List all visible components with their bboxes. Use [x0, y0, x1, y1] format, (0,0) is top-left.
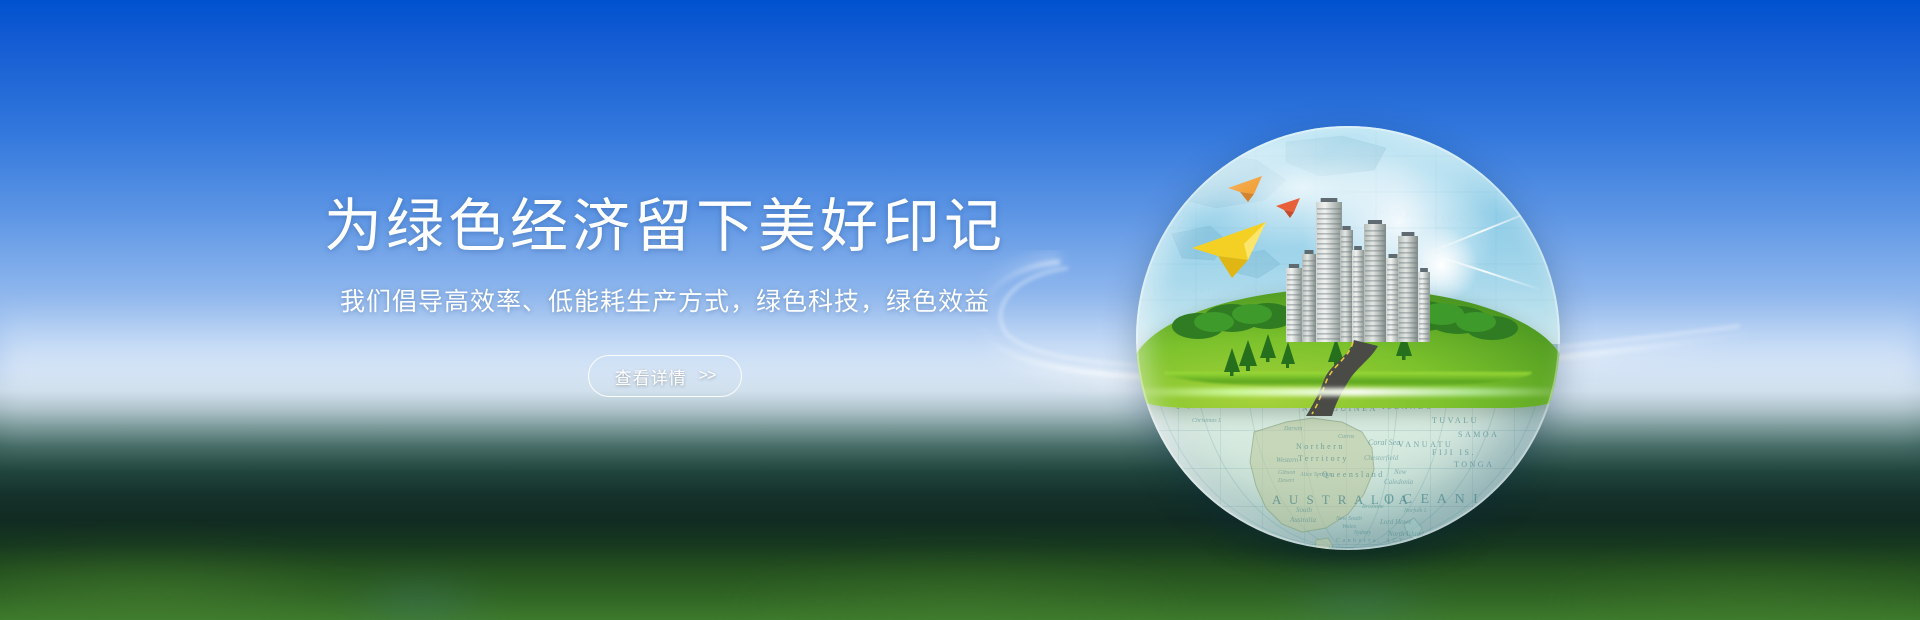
- building-window-band: [1353, 301, 1363, 303]
- building-window-band: [1353, 316, 1363, 318]
- building-window-band: [1399, 287, 1417, 289]
- building-window-band: [1341, 331, 1352, 333]
- building-window-band: [1419, 278, 1429, 280]
- building-window-band: [1399, 262, 1417, 264]
- building-roof: [1342, 226, 1350, 230]
- building-roof: [1420, 268, 1428, 272]
- building: [1418, 272, 1430, 342]
- building-window-band: [1341, 271, 1352, 273]
- building-window-band: [1399, 272, 1417, 274]
- building-window-band: [1399, 252, 1417, 254]
- building-window-band: [1387, 269, 1399, 271]
- building-window-band: [1365, 255, 1385, 257]
- building-window-band: [1399, 327, 1417, 329]
- building-window-band: [1387, 329, 1399, 331]
- building-window-band: [1365, 305, 1385, 307]
- building-window-band: [1341, 286, 1352, 288]
- building-window-band: [1353, 331, 1363, 333]
- building-window-band: [1365, 230, 1385, 232]
- building-window-band: [1399, 242, 1417, 244]
- building-window-band: [1387, 279, 1399, 281]
- building-window-band: [1387, 304, 1399, 306]
- building-window-band: [1341, 251, 1352, 253]
- building-window-band: [1341, 316, 1352, 318]
- building-window-band: [1353, 281, 1363, 283]
- building-window-band: [1353, 296, 1363, 298]
- building-window-band: [1365, 330, 1385, 332]
- building-window-band: [1365, 280, 1385, 282]
- building-window-band: [1365, 295, 1385, 297]
- building-window-band: [1341, 266, 1352, 268]
- building-window-band: [1365, 310, 1385, 312]
- building-window-band: [1365, 235, 1385, 237]
- building-window-band: [1419, 333, 1429, 335]
- building-window-band: [1387, 289, 1399, 291]
- building-window-band: [1353, 336, 1363, 338]
- building-window-band: [1341, 246, 1352, 248]
- building-window-band: [1399, 302, 1417, 304]
- building-window-band: [1365, 300, 1385, 302]
- building-window-band: [1365, 335, 1385, 337]
- building-window-band: [1365, 290, 1385, 292]
- building-window-band: [1399, 322, 1417, 324]
- building-window-band: [1341, 326, 1352, 328]
- building-window-band: [1353, 266, 1363, 268]
- building-window-band: [1419, 313, 1429, 315]
- building-window-band: [1353, 286, 1363, 288]
- building-window-band: [1341, 336, 1352, 338]
- building: [1398, 236, 1418, 342]
- building-window-band: [1419, 318, 1429, 320]
- building-window-band: [1387, 274, 1399, 276]
- building-window-band: [1353, 261, 1363, 263]
- building-window-band: [1419, 288, 1429, 290]
- building-window-band: [1353, 271, 1363, 273]
- building-window-band: [1387, 299, 1399, 301]
- building-window-band: [1365, 285, 1385, 287]
- building-window-band: [1341, 311, 1352, 313]
- building-window-band: [1419, 283, 1429, 285]
- building-window-band: [1341, 236, 1352, 238]
- building-window-band: [1387, 309, 1399, 311]
- building-roof: [1402, 232, 1415, 236]
- building-window-band: [1365, 320, 1385, 322]
- building-window-band: [1399, 297, 1417, 299]
- building-window-band: [1419, 323, 1429, 325]
- page-title: 为绿色经济留下美好印记: [324, 197, 1006, 258]
- building-window-band: [1419, 293, 1429, 295]
- building-window-band: [1341, 301, 1352, 303]
- view-details-button[interactable]: 查看详情 >>: [588, 355, 743, 397]
- building-window-band: [1387, 319, 1399, 321]
- building-window-band: [1353, 326, 1363, 328]
- hero-copy: 为绿色经济留下美好印记 我们倡导高效率、低能耗生产方式，绿色科技，绿色效益 查看…: [0, 0, 1330, 620]
- building-window-band: [1399, 292, 1417, 294]
- building-window-band: [1419, 308, 1429, 310]
- building-window-band: [1387, 294, 1399, 296]
- building-roof: [1368, 220, 1382, 224]
- building-roof: [1389, 254, 1398, 258]
- building-window-band: [1365, 275, 1385, 277]
- building-window-band: [1399, 257, 1417, 259]
- building-window-band: [1341, 281, 1352, 283]
- building-window-band: [1353, 311, 1363, 313]
- building-window-band: [1365, 245, 1385, 247]
- building-window-band: [1399, 317, 1417, 319]
- building-roof: [1354, 246, 1362, 250]
- building-window-band: [1365, 240, 1385, 242]
- building-window-band: [1387, 284, 1399, 286]
- building-window-band: [1419, 328, 1429, 330]
- hero-banner: North Pacific OceanMidwayWake IslandPHIL…: [0, 0, 1920, 620]
- building-window-band: [1353, 306, 1363, 308]
- building-window-band: [1365, 265, 1385, 267]
- page-subtitle: 我们倡导高效率、低能耗生产方式，绿色科技，绿色效益: [340, 287, 990, 317]
- building-window-band: [1399, 337, 1417, 339]
- building-window-band: [1341, 276, 1352, 278]
- building-window-band: [1399, 277, 1417, 279]
- building-window-band: [1399, 332, 1417, 334]
- building-window-band: [1399, 307, 1417, 309]
- building-window-band: [1365, 260, 1385, 262]
- building-window-band: [1341, 296, 1352, 298]
- building-window-band: [1353, 276, 1363, 278]
- building-window-band: [1341, 291, 1352, 293]
- building-window-band: [1341, 256, 1352, 258]
- building-window-band: [1365, 270, 1385, 272]
- view-details-label: 查看详情: [615, 364, 687, 389]
- building-window-band: [1387, 264, 1399, 266]
- building-window-band: [1387, 324, 1399, 326]
- building-window-band: [1387, 334, 1399, 336]
- building-window-band: [1419, 338, 1429, 340]
- chevron-double-right-icon: >>: [699, 367, 716, 385]
- building-window-band: [1353, 321, 1363, 323]
- building-window-band: [1353, 256, 1363, 258]
- building-window-band: [1399, 267, 1417, 269]
- building-window-band: [1365, 250, 1385, 252]
- building-window-band: [1341, 241, 1352, 243]
- building: [1364, 224, 1386, 342]
- building-window-band: [1365, 325, 1385, 327]
- building-window-band: [1399, 282, 1417, 284]
- building-window-band: [1387, 314, 1399, 316]
- building-window-band: [1341, 261, 1352, 263]
- building-window-band: [1341, 306, 1352, 308]
- building-window-band: [1365, 315, 1385, 317]
- building-window-band: [1419, 298, 1429, 300]
- building-window-band: [1419, 303, 1429, 305]
- building-window-band: [1353, 291, 1363, 293]
- building-window-band: [1341, 321, 1352, 323]
- building-window-band: [1399, 247, 1417, 249]
- building-window-band: [1399, 312, 1417, 314]
